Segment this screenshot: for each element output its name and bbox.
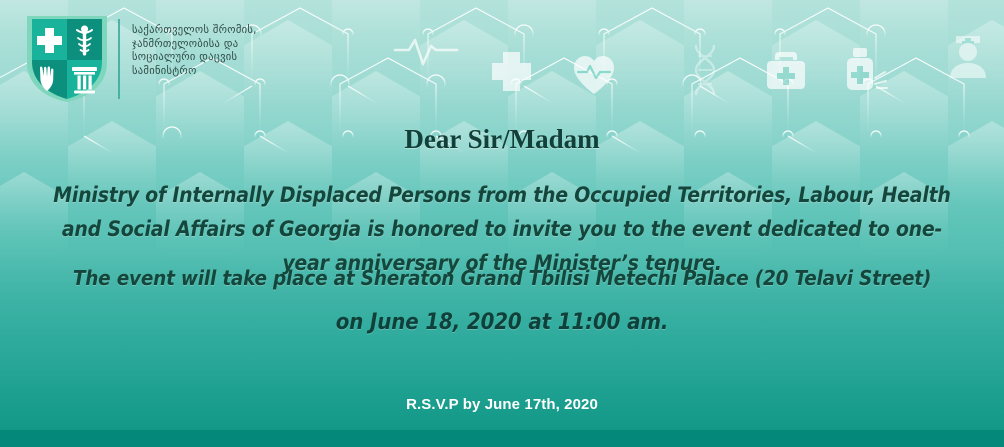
invitation-datetime-line: on June 18, 2020 at 11:00 am. [0, 308, 1004, 338]
ministry-name-georgian: საქართველოს შრომის, ჯანმრთელობისა და სოც… [132, 24, 257, 78]
invitation-card: საქართველოს შრომის, ჯანმრთელობისა და სოც… [0, 0, 1004, 447]
rsvp-line: R.S.V.P by June 17th, 2020 [0, 396, 1004, 413]
salutation-heading: Dear Sir/Madam [0, 124, 1004, 155]
ministry-logo: საქართველოს შრომის, ჯანმრთელობისა და სოც… [27, 16, 257, 102]
invitation-venue-line: The event will take place at Sheraton Gr… [0, 263, 1004, 293]
ministry-shield-icon [27, 16, 107, 102]
logo-divider [118, 19, 120, 99]
